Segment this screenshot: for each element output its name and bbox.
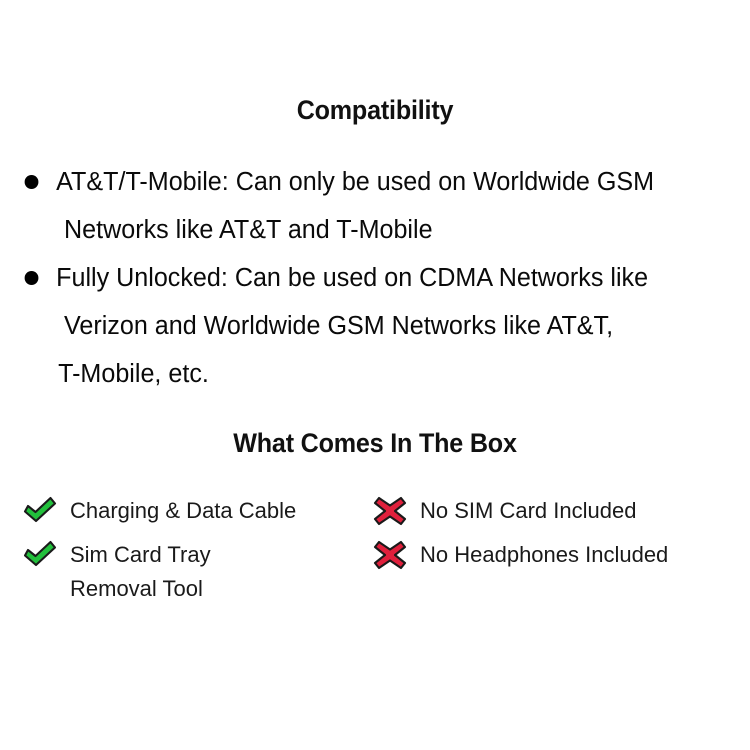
list-item-label: Charging & Data Cable [70, 498, 296, 523]
excluded-items-column: No SIM Card Included No Headphones Inclu… [372, 494, 742, 582]
red-cross-icon [372, 495, 408, 527]
list-item-label-line1: Charging & Data Cable [70, 498, 296, 523]
list-item-label: No SIM Card Included [420, 498, 636, 523]
compatibility-bullet-continuation: T-Mobile, etc. [0, 350, 739, 398]
compatibility-bullet-text: Networks like AT&T and T-Mobile [64, 216, 433, 244]
included-items-column: Charging & Data Cable Sim Card Tray Remo… [22, 494, 382, 608]
compatibility-bullet-continuation: Networks like AT&T and T-Mobile [0, 206, 739, 254]
compatibility-bullet-continuation: Verizon and Worldwide GSM Networks like … [0, 302, 739, 350]
bullet-circle-icon [25, 271, 39, 285]
red-cross-icon [372, 539, 408, 571]
green-check-icon [22, 539, 58, 571]
product-info-graphic: Compatibility AT&T/T-Mobile: Can only be… [0, 0, 750, 750]
compatibility-bullet-text: Verizon and Worldwide GSM Networks like … [64, 312, 613, 340]
list-item: Sim Card Tray Removal Tool [22, 538, 382, 606]
list-item-label-line2: Removal Tool [70, 572, 382, 606]
compatibility-bullet-text: T-Mobile, etc. [58, 360, 209, 388]
list-item-label-line1: No SIM Card Included [420, 498, 636, 523]
box-contents-heading: What Comes In The Box [26, 428, 724, 459]
list-item-label: Sim Card Tray Removal Tool [70, 542, 382, 606]
bullet-circle-icon [25, 175, 39, 189]
compatibility-bullet-item: Fully Unlocked: Can be used on CDMA Netw… [0, 254, 739, 302]
green-check-icon [22, 495, 58, 527]
compatibility-bullet-item: AT&T/T-Mobile: Can only be used on World… [0, 158, 739, 206]
list-item-label: No Headphones Included [420, 542, 668, 567]
list-item: No Headphones Included [372, 538, 742, 580]
list-item-label-line1: No Headphones Included [420, 542, 668, 567]
compatibility-bullet-text: AT&T/T-Mobile: Can only be used on World… [56, 168, 654, 196]
list-item-label-line1: Sim Card Tray [70, 542, 211, 567]
list-item: No SIM Card Included [372, 494, 742, 536]
compatibility-list: AT&T/T-Mobile: Can only be used on World… [0, 158, 750, 398]
list-item: Charging & Data Cable [22, 494, 382, 536]
compatibility-bullet-text: Fully Unlocked: Can be used on CDMA Netw… [56, 264, 648, 292]
compatibility-heading: Compatibility [26, 95, 724, 126]
